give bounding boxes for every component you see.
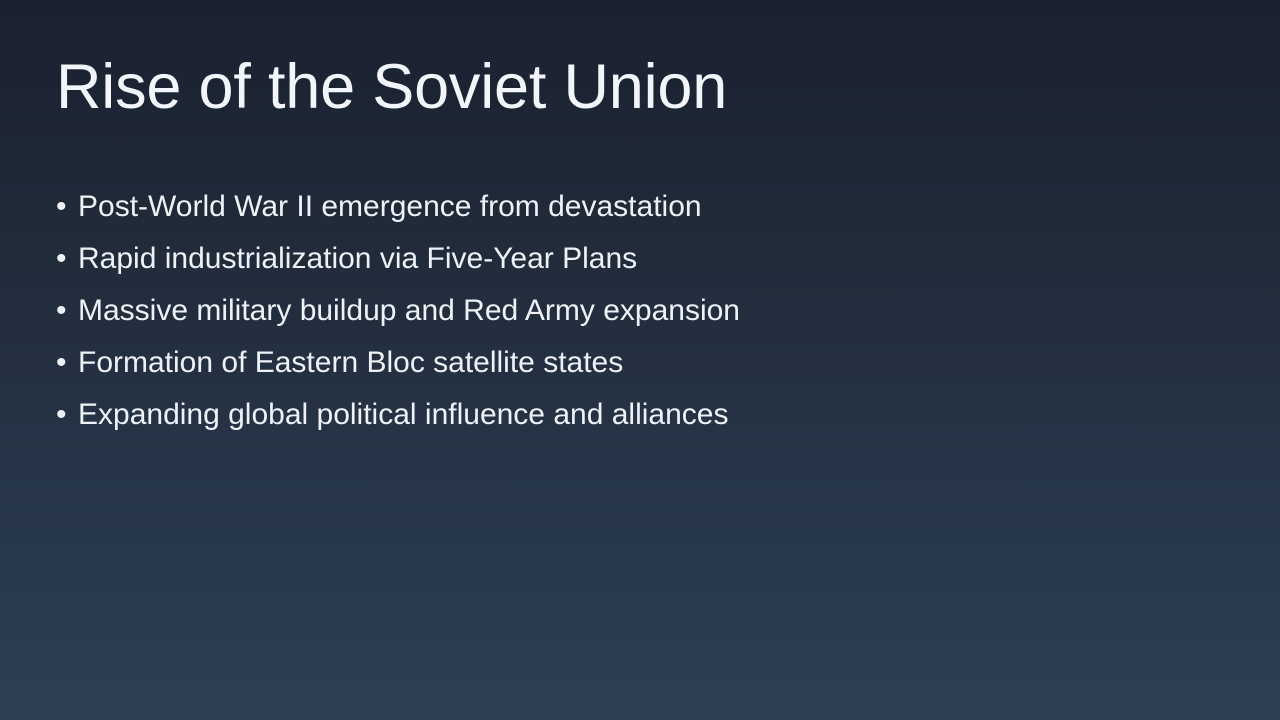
bullet-point-icon: •: [56, 188, 78, 226]
slide-bullet-list: • Post-World War II emergence from devas…: [56, 188, 1156, 448]
list-item-label: Post-World War II emergence from devasta…: [78, 188, 702, 226]
bullet-point-icon: •: [56, 344, 78, 382]
bullet-point-icon: •: [56, 396, 78, 434]
slide-title: Rise of the Soviet Union: [56, 52, 727, 123]
bullet-point-icon: •: [56, 240, 78, 278]
list-item: • Post-World War II emergence from devas…: [56, 188, 1156, 240]
list-item-label: Massive military buildup and Red Army ex…: [78, 292, 740, 330]
bullet-point-icon: •: [56, 292, 78, 330]
list-item-label: Rapid industrialization via Five-Year Pl…: [78, 240, 637, 278]
presentation-slide: Rise of the Soviet Union • Post-World Wa…: [0, 0, 1280, 720]
list-item: • Rapid industrialization via Five-Year …: [56, 240, 1156, 292]
list-item: • Massive military buildup and Red Army …: [56, 292, 1156, 344]
slide-content: Rise of the Soviet Union • Post-World Wa…: [0, 0, 1280, 720]
list-item-label: Expanding global political influence and…: [78, 396, 728, 434]
list-item: • Formation of Eastern Bloc satellite st…: [56, 344, 1156, 396]
list-item-label: Formation of Eastern Bloc satellite stat…: [78, 344, 623, 382]
list-item: • Expanding global political influence a…: [56, 396, 1156, 448]
